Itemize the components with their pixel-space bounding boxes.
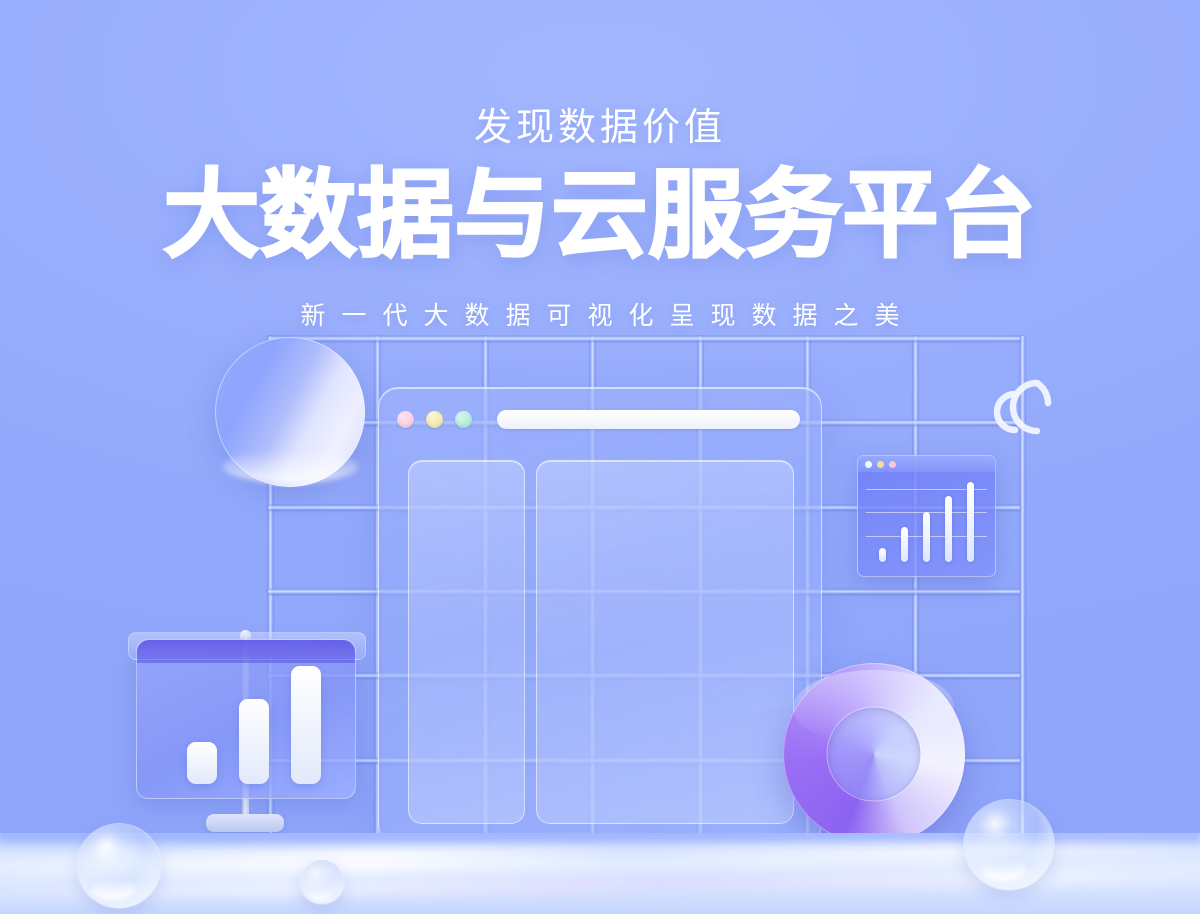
board-bar xyxy=(239,699,269,784)
mini-dot-yellow[interactable] xyxy=(877,461,884,468)
board-bar xyxy=(291,666,321,784)
mini-chart-bar xyxy=(879,548,886,562)
maximize-dot[interactable] xyxy=(455,411,472,428)
mini-titlebar xyxy=(858,456,995,472)
glass-disc xyxy=(215,337,365,487)
glass-sphere-right xyxy=(964,800,1054,890)
page-title: 大数据与云服务平台 xyxy=(0,166,1200,266)
mini-dot-pink[interactable] xyxy=(889,461,896,468)
hero-kicker: 发现数据价值 xyxy=(0,96,1200,151)
glass-sphere-small xyxy=(300,860,344,904)
sidebar-panel[interactable] xyxy=(408,460,525,824)
cloud-icon xyxy=(976,362,1068,438)
bar-chart-board[interactable] xyxy=(136,639,356,799)
hero-banner: 发现数据价值 大数据与云服务平台 新一代大数据可视化呈现数据之美 xyxy=(0,0,1200,914)
address-bar[interactable] xyxy=(497,410,800,429)
board-header xyxy=(137,640,355,663)
mini-chart-bar xyxy=(967,482,974,562)
mini-chart-area xyxy=(858,472,995,576)
mini-chart-bar xyxy=(945,496,952,562)
donut-chart xyxy=(783,663,965,845)
grid-line-horizontal xyxy=(268,336,1020,341)
hero-subtitle: 新一代大数据可视化呈现数据之美 xyxy=(0,296,1200,332)
glass-sphere-left xyxy=(77,824,161,908)
close-dot[interactable] xyxy=(397,411,414,428)
browser-mockup[interactable] xyxy=(378,387,822,844)
browser-titlebar xyxy=(379,388,821,450)
mini-dot-white[interactable] xyxy=(865,461,872,468)
minimize-dot[interactable] xyxy=(426,411,443,428)
board-bars xyxy=(137,666,355,784)
mini-chart-bar xyxy=(923,512,930,562)
mini-chart-bar xyxy=(901,527,908,562)
stand-base xyxy=(206,814,284,832)
mini-chart-window[interactable] xyxy=(857,455,996,577)
content-panel[interactable] xyxy=(536,460,794,824)
board-bar xyxy=(187,742,217,784)
